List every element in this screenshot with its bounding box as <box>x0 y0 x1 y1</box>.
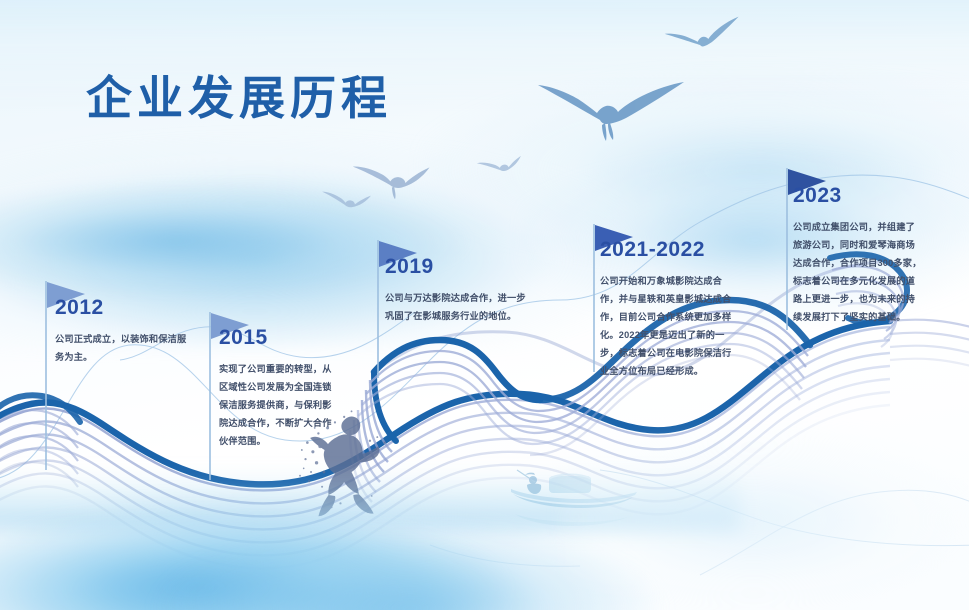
milestone-description: 公司开始和万象城影院达成合作，并与星轶和英皇影城达成合作，目前公司合作系统更加多… <box>600 273 736 381</box>
milestone-year: 2015 <box>219 326 337 350</box>
page-title: 企业发展历程 <box>86 62 392 128</box>
milestone-description: 公司与万达影院达成合作，进一步巩固了在影城服务行业的地位。 <box>385 290 533 326</box>
milestone-year: 2021-2022 <box>600 238 736 262</box>
milestone-year: 2019 <box>385 255 533 279</box>
timeline-poster: 企业发展历程 2012 公司正式成立，以装饰和保洁服务为主。 2015 实现了公… <box>0 0 969 610</box>
milestone-2021-2022: 2021-2022 公司开始和万象城影院达成合作，并与星轶和英皇影城达成合作，目… <box>600 238 736 381</box>
milestone-year: 2023 <box>793 184 923 208</box>
milestone-2019: 2019 公司与万达影院达成合作，进一步巩固了在影城服务行业的地位。 <box>385 255 533 326</box>
bird-icon <box>350 159 430 202</box>
mountain-wash-1b <box>0 490 560 610</box>
milestone-2015: 2015 实现了公司重要的转型，从区域性公司发展为全国连锁保洁服务提供商，与保利… <box>219 326 337 451</box>
milestone-year: 2012 <box>55 296 187 320</box>
bird-icon <box>476 156 521 173</box>
milestone-description: 公司正式成立，以装饰和保洁服务为主。 <box>55 331 187 367</box>
bird-icon <box>320 187 371 210</box>
bird-icon <box>664 17 743 54</box>
milestone-2012: 2012 公司正式成立，以装饰和保洁服务为主。 <box>55 296 187 367</box>
milestone-description: 实现了公司重要的转型，从区域性公司发展为全国连锁保洁服务提供商，与保利影院达成合… <box>219 361 337 451</box>
haze-right <box>560 430 969 610</box>
milestone-2023: 2023 公司成立集团公司，并组建了旅游公司，同时和爱琴海商场达成合作，合作项目… <box>793 184 923 327</box>
mountain-edge-wash <box>0 470 740 530</box>
mountain-wash-2 <box>150 500 670 610</box>
milestone-description: 公司成立集团公司，并组建了旅游公司，同时和爱琴海商场达成合作，合作项目300多家… <box>793 219 923 327</box>
mountain-wash-1 <box>0 455 660 610</box>
bird-icon <box>538 82 684 141</box>
